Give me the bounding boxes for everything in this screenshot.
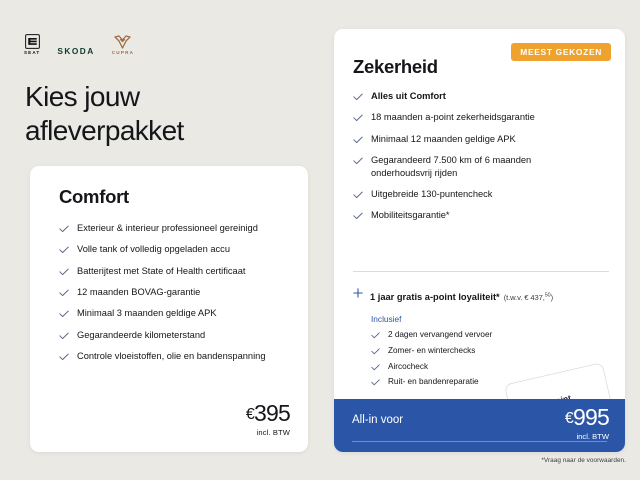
check-icon [371,364,380,371]
list-item: Minimaal 3 maanden geldige APK [59,307,290,320]
list-item: Uitgebreide 130-puntencheck [353,188,609,201]
list-item: Batterijtest met State of Health certifi… [59,265,290,278]
list-item: Exterieur & interieur professioneel gere… [59,222,290,235]
seat-logo-label: SEAT [24,50,40,55]
loyalty-value-suffix: ) [551,293,553,302]
check-icon [371,332,380,339]
check-icon [353,136,363,144]
status-badge: MEEST GEKOZEN [511,43,611,61]
list-item: 12 maanden BOVAG-garantie [59,286,290,299]
comfort-price: €395 [246,402,290,425]
list-item: Mobiliteitsgarantie* [353,209,609,222]
list-item-label: Aircocheck [388,362,428,372]
check-icon [353,212,363,220]
list-item: 18 maanden a-point zekerheidsgarantie [353,111,609,124]
check-icon [59,310,69,318]
included-label: Inclusief [371,314,611,324]
seat-logo: SEAT [24,34,40,56]
list-item: Volle tank of volledig opgeladen accu [59,243,290,256]
comfort-price-currency: € [246,406,254,423]
skoda-logo: SKODA [57,47,94,55]
list-item-label: Controle vloeistoffen, olie en bandenspa… [77,350,266,363]
list-item: Zomer- en winterchecks [371,346,551,356]
check-icon [59,225,69,233]
loyalty-value: (t.w.v. € 437,50) [504,293,553,302]
comfort-feature-list: Exterieur & interieur professioneel gere… [59,222,290,363]
page-title: Kies jouw afleverpakket [25,80,184,148]
zekerheid-title: Zekerheid [353,56,438,78]
comfort-price-note: incl. BTW [246,428,290,437]
list-item-label: Alles uit Comfort [371,90,446,103]
list-item-label: Minimaal 3 maanden geldige APK [77,307,217,320]
check-icon [59,268,69,276]
zekerheid-price-currency: € [565,410,573,427]
list-item-label: 2 dagen vervangend vervoer [388,330,492,340]
list-item-label: Minimaal 12 maanden geldige APK [371,133,516,146]
cupra-logo-label: CUPRA [112,50,134,55]
footer-label: All-in voor [352,414,403,426]
list-item-label: 18 maanden a-point zekerheidsgarantie [371,111,535,124]
check-icon [59,246,69,254]
comfort-title: Comfort [59,186,129,208]
check-icon [371,379,380,386]
check-icon [353,93,363,101]
list-item-label: Uitgebreide 130-puntencheck [371,188,492,201]
comfort-package-card[interactable]: Comfort Exterieur & interieur profession… [30,166,308,452]
list-item-label: Zomer- en winterchecks [388,346,475,356]
page-title-line-2: afleverpakket [25,115,184,146]
list-item: 2 dagen vervangend vervoer [371,330,551,340]
list-item: Gegarandeerd 7.500 km of 6 maanden onder… [353,154,609,180]
plus-icon [353,288,363,298]
list-item: Minimaal 12 maanden geldige APK [353,133,609,146]
list-item-label: Gegarandeerde kilometerstand [77,329,205,342]
zekerheid-package-card[interactable]: MEEST GEKOZEN Zekerheid Alles uit Comfor… [334,29,625,452]
check-icon [371,348,380,355]
seat-logo-icon [25,34,40,49]
list-item: Controle vloeistoffen, olie en bandenspa… [59,350,290,363]
cupra-logo-icon [114,35,131,49]
comfort-price-amount: 395 [254,400,290,426]
cupra-logo: CUPRA [112,35,134,56]
list-item-label: Batterijtest met State of Health certifi… [77,265,245,278]
skoda-logo-label: SKODA [57,47,94,55]
zekerheid-price-block: €995 incl. BTW [565,406,609,441]
check-icon [59,332,69,340]
list-item: Aircocheck [371,362,551,372]
left-column: SEAT SKODA CUPRA Kies jouw afleverpakket… [0,0,330,480]
list-item: Alles uit Comfort [353,90,609,103]
list-item: Gegarandeerde kilometerstand [59,329,290,342]
section-divider [353,271,609,272]
zekerheid-price: €995 [565,406,609,429]
list-item-label: Volle tank of volledig opgeladen accu [77,243,230,256]
check-icon [353,157,363,165]
list-item-label: Gegarandeerd 7.500 km of 6 maanden onder… [371,154,581,180]
list-item-label: Exterieur & interieur professioneel gere… [77,222,258,235]
zekerheid-price-note: incl. BTW [565,432,609,441]
brand-logo-bar: SEAT SKODA CUPRA [24,31,134,55]
list-item-label: Ruit- en bandenreparatie [388,377,479,387]
check-icon [59,353,69,361]
check-icon [353,191,363,199]
loyalty-value-prefix: (t.w.v. € 437, [504,293,545,302]
offer-page: SEAT SKODA CUPRA Kies jouw afleverpakket… [0,0,640,480]
page-title-line-1: Kies jouw [25,81,139,112]
list-item-label: 12 maanden BOVAG-garantie [77,286,200,299]
comfort-price-block: €395 incl. BTW [246,402,290,437]
footer-divider [352,441,607,442]
loyalty-title: 1 jaar gratis a-point loyaliteit* [370,292,500,302]
zekerheid-feature-list: Alles uit Comfort 18 maanden a-point zek… [353,90,609,222]
check-icon [59,289,69,297]
disclaimer-text: *Vraag naar de voorwaarden. [541,457,626,464]
loyalty-header: 1 jaar gratis a-point loyaliteit*(t.w.v.… [353,287,611,305]
zekerheid-price-amount: 995 [573,404,609,430]
list-item-label: Mobiliteitsgarantie* [371,209,450,222]
check-icon [353,114,363,122]
zekerheid-price-footer: All-in voor €995 incl. BTW [334,399,625,452]
